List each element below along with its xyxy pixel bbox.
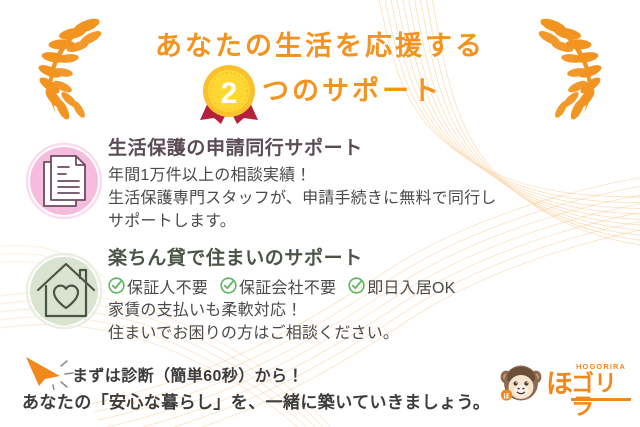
house-heart-icon-wrapper	[24, 246, 108, 338]
logo-kana-ho: ほ	[546, 371, 573, 398]
documents-icon-wrapper	[24, 136, 108, 228]
gorilla-mascot-icon: ほ	[499, 362, 543, 404]
check-item-1: 保証人不要	[108, 274, 208, 298]
logo-wordmark: HOGORIRA ほ ゴリラ	[546, 362, 632, 404]
promo-banner: あなたの生活を応援する 2 つのサポート	[0, 0, 640, 427]
support-1-title: 生活保護の申請同行サポート	[108, 138, 622, 161]
support-1-body: 生活保護の申請同行サポート 年間1万件以上の相談実績！ 生活保護専門スタッフが、…	[108, 136, 622, 233]
headline-line-2: つのサポート	[262, 78, 442, 109]
banner-header: あなたの生活を応援する 2 つのサポート	[0, 0, 640, 128]
support-item-1: 生活保護の申請同行サポート 年間1万件以上の相談実績！ 生活保護専門スタッフが、…	[24, 136, 622, 233]
support-2-line-2: 住まいでお困りの方はご相談ください。	[108, 322, 622, 345]
headline-line-2-row: 2 つのサポート	[0, 62, 640, 124]
footer-line-2: あなたの「安心な暮らし」を、一緒に築いていきましょう。	[22, 388, 490, 413]
check-circle-icon	[220, 277, 237, 294]
logo-badge-kana: ほ	[503, 392, 510, 400]
support-1-line-3: サポートします。	[108, 210, 622, 233]
logo-kana-gorira: ゴリラ	[571, 372, 632, 418]
headline-line-1: あなたの生活を応援する	[0, 24, 640, 63]
banner-footer: まずは診断（簡単60秒）から！ あなたの「安心な暮らし」を、一緒に築いていきまし…	[0, 352, 640, 427]
support-1-line-1: 年間1万件以上の相談実績！	[108, 164, 622, 187]
check-item-3-label: 即日入居OK	[367, 274, 455, 298]
medal-badge-icon: 2	[198, 62, 260, 124]
medal-number: 2	[221, 77, 238, 110]
check-item-3: 即日入居OK	[348, 274, 455, 298]
check-item-2-label: 保証会社不要	[239, 274, 336, 298]
support-1-line-2: 生活保護専門スタッフが、申請手続きに無料で同行し	[108, 187, 622, 210]
support-item-2: 楽ちん貸で住まいのサポート 保証人不要 保証会社不要	[24, 246, 622, 345]
documents-icon	[24, 136, 108, 228]
check-circle-icon	[348, 277, 365, 294]
hogorira-logo[interactable]: ほ HOGORIRA ほ ゴリラ	[499, 362, 632, 404]
check-item-2: 保証会社不要	[220, 274, 336, 298]
click-cursor-icon	[20, 352, 80, 390]
check-circle-icon	[108, 277, 125, 294]
support-2-title: 楽ちん貸で住まいのサポート	[108, 248, 622, 271]
support-2-body: 楽ちん貸で住まいのサポート 保証人不要 保証会社不要	[108, 246, 622, 345]
footer-line-1: まずは診断（簡単60秒）から！	[72, 362, 304, 386]
support-2-line-1: 家賃の支払いも柔軟対応！	[108, 299, 622, 322]
house-heart-icon	[24, 246, 108, 338]
check-item-1-label: 保証人不要	[127, 274, 208, 298]
logo-underline	[571, 398, 631, 401]
support-2-check-row: 保証人不要 保証会社不要 即日入居OK	[108, 274, 622, 298]
